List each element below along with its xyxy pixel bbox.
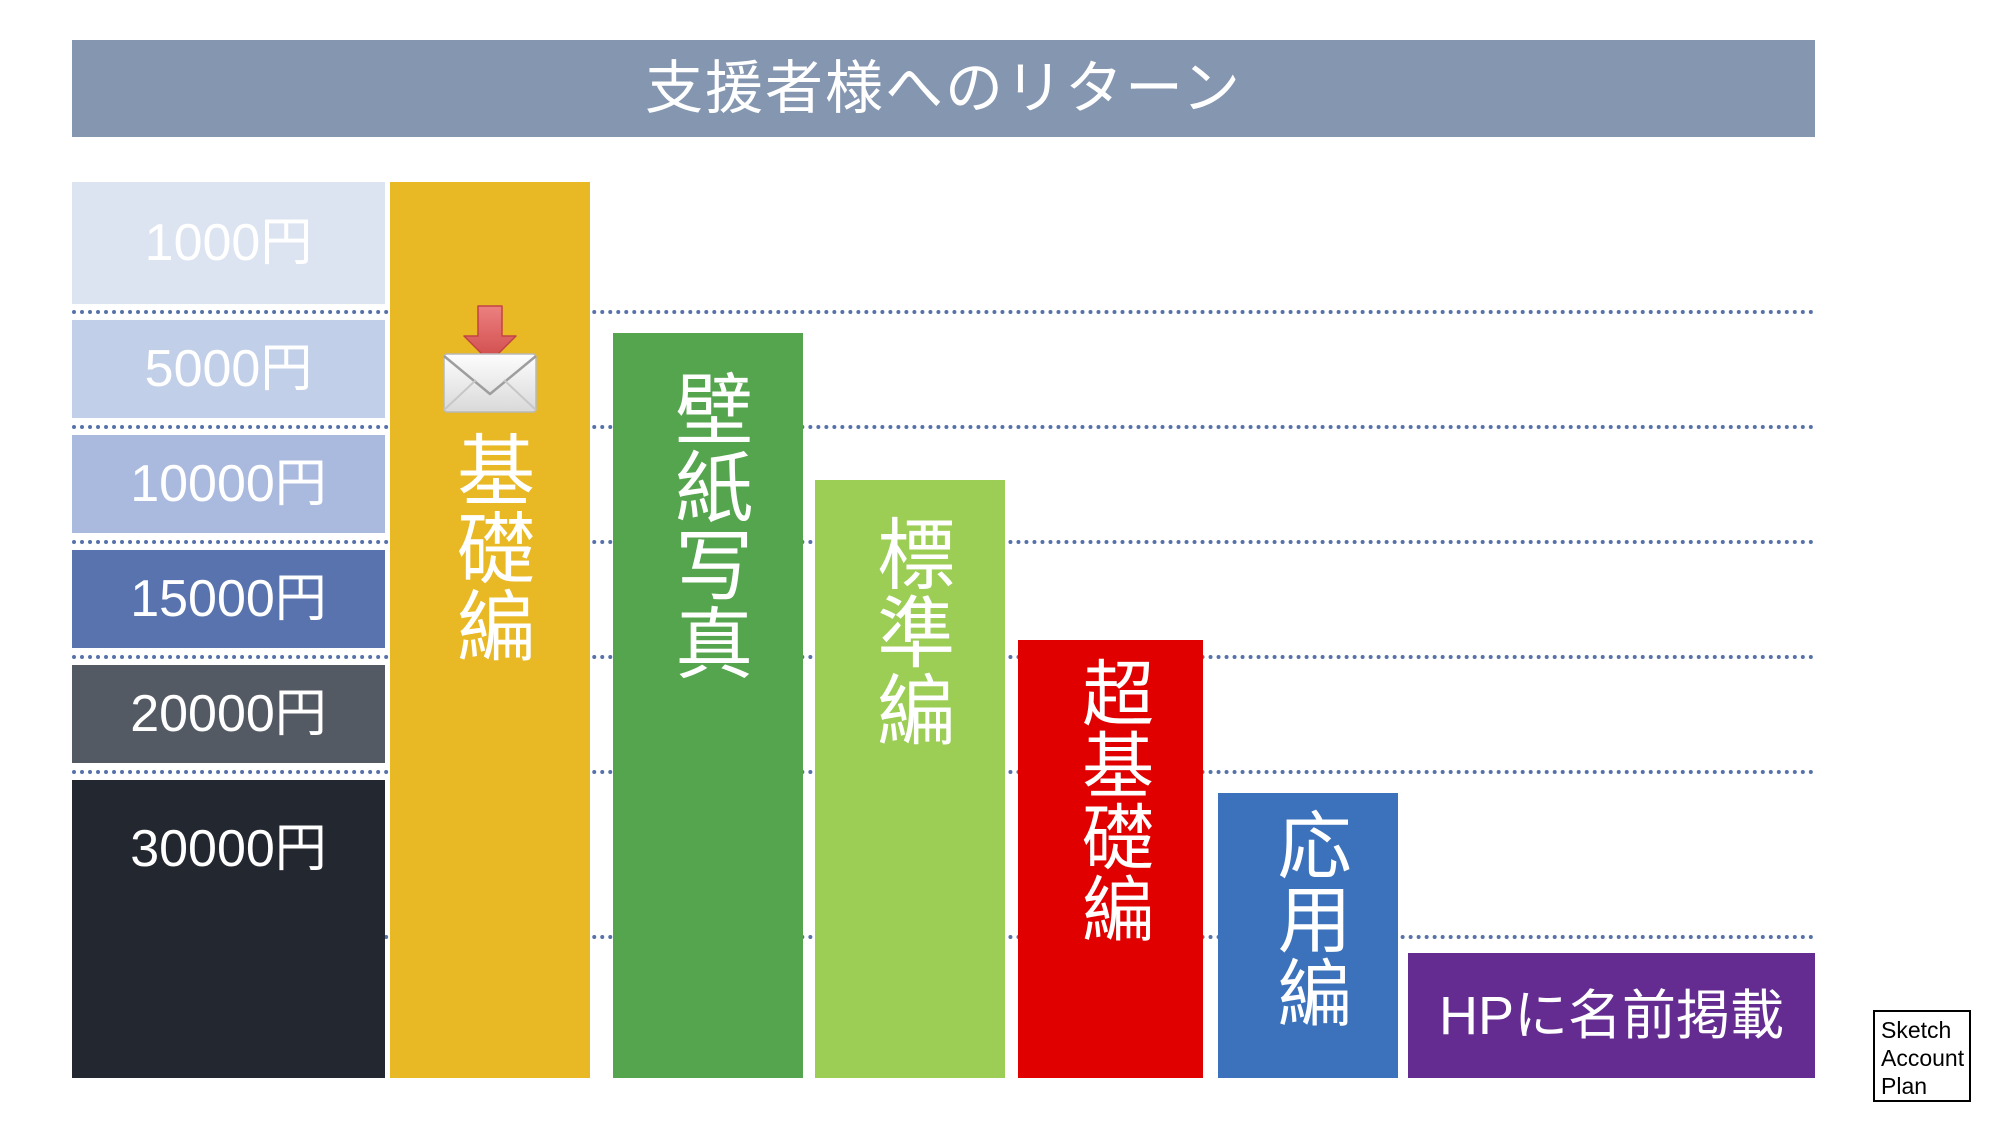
bar-oyo-hen[interactable]: 応用編 [1218,793,1398,1078]
sketch-account-plan-watermark: Sketch Account Plan [1873,1010,1971,1102]
tier-label-text: 30000円 [130,823,327,875]
tier-label-30000[interactable]: 30000円 [72,780,385,1078]
tier-label-5000[interactable]: 5000円 [72,320,385,418]
bar-label: 超基礎編 [1073,656,1147,944]
bar-kabegami-shashin[interactable]: 壁紙写真 [613,333,803,1078]
watermark-line-3: Plan [1881,1072,1963,1100]
gridline-2 [72,425,1815,429]
tier-label-text: 20000円 [130,688,327,740]
tier-label-text: 15000円 [130,573,327,625]
bar-kiso-hen[interactable]: 基礎編 [390,182,590,1078]
tier-label-10000[interactable]: 10000円 [72,435,385,533]
bar-label: HPに名前掲載 [1439,989,1784,1043]
tier-label-text: 1000円 [145,217,313,269]
watermark-line-1: Sketch [1881,1016,1963,1044]
gridline-1 [72,310,1815,314]
bar-hyojun-hen[interactable]: 標準編 [815,480,1005,1078]
incoming-envelope-icon [430,300,550,420]
bar-label: 標準編 [870,514,950,748]
tier-label-text: 5000円 [145,343,313,395]
tier-label-15000[interactable]: 15000円 [72,550,385,648]
page-title-banner: 支援者様へのリターン [72,40,1815,137]
bar-label: 基礎編 [450,430,530,664]
tier-label-text: 10000円 [130,458,327,510]
bar-label: 応用編 [1270,807,1346,1029]
tier-label-1000[interactable]: 1000円 [72,182,385,304]
tier-label-20000[interactable]: 20000円 [72,665,385,763]
page-title: 支援者様へのリターン [645,60,1242,118]
watermark-line-2: Account [1881,1044,1963,1072]
bar-label: 壁紙写真 [668,369,748,681]
bar-hp-ni-namae-keisai[interactable]: HPに名前掲載 [1408,953,1815,1078]
slide-canvas: 支援者様へのリターン 1000円 5000円 10000円 15000円 200… [0,0,2000,1125]
bar-cho-kiso-hen[interactable]: 超基礎編 [1018,640,1203,1078]
